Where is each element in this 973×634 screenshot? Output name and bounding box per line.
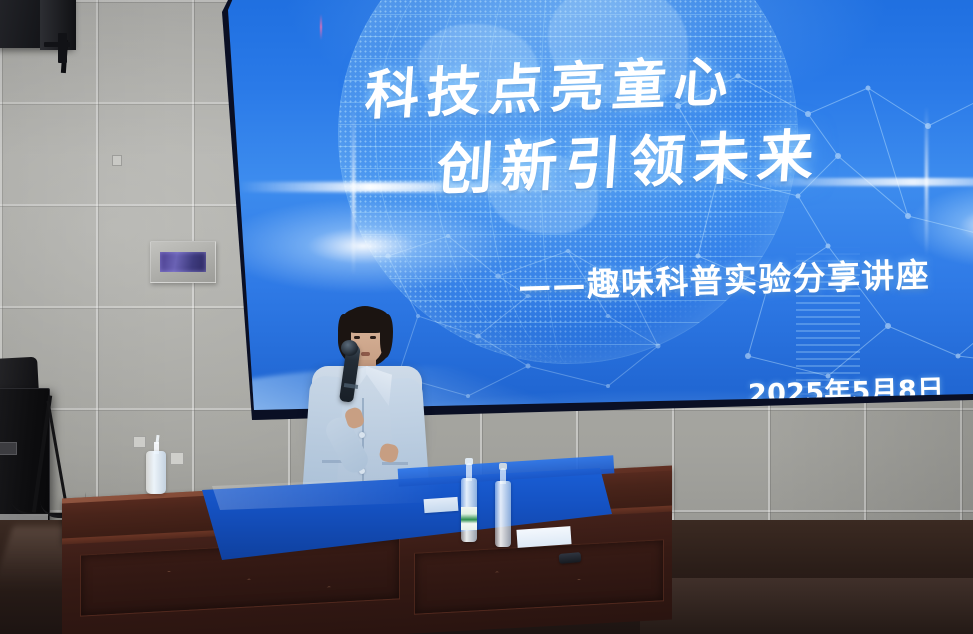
water-bottle-green-label-band [461, 507, 477, 530]
rack-label [0, 442, 17, 455]
wall-control-panel-display [160, 252, 206, 272]
table-chevron-1 [127, 569, 211, 596]
table-chevron-4 [455, 569, 539, 596]
wall-control-panel[interactable] [150, 241, 216, 283]
papers-left [424, 497, 459, 513]
speaker-bracket-vertical [58, 33, 67, 63]
wall-switch-upper [112, 155, 122, 166]
presenter-mouth [361, 352, 370, 356]
speaker-bracket-horizontal [44, 42, 70, 47]
wall-switch-lower [133, 436, 146, 448]
wall-socket [170, 452, 184, 465]
presenter-hair-right [380, 314, 393, 358]
presentation-clicker [559, 552, 582, 564]
stage-floor-right [640, 578, 973, 634]
presentation-subtitle: ——趣味科普实验分享讲座 [517, 248, 930, 307]
presenter-eye-left [354, 336, 360, 339]
coat-pocket-right [382, 462, 408, 465]
table-chevron-2 [207, 576, 291, 603]
table-chevron-5 [537, 577, 621, 604]
lecture-hall-photo: 科技点亮童心 创新引领未来 ——趣味科普实验分享讲座 2025年5月8日 [0, 0, 973, 634]
coat-button-1 [359, 432, 365, 438]
white-squeeze-bottle [146, 451, 166, 494]
water-bottle-orange-label-band [495, 495, 511, 521]
presentation-title-line2: 创新引领未来 [435, 111, 825, 207]
papers-right [516, 526, 571, 548]
presenter-eye-right [370, 336, 376, 339]
